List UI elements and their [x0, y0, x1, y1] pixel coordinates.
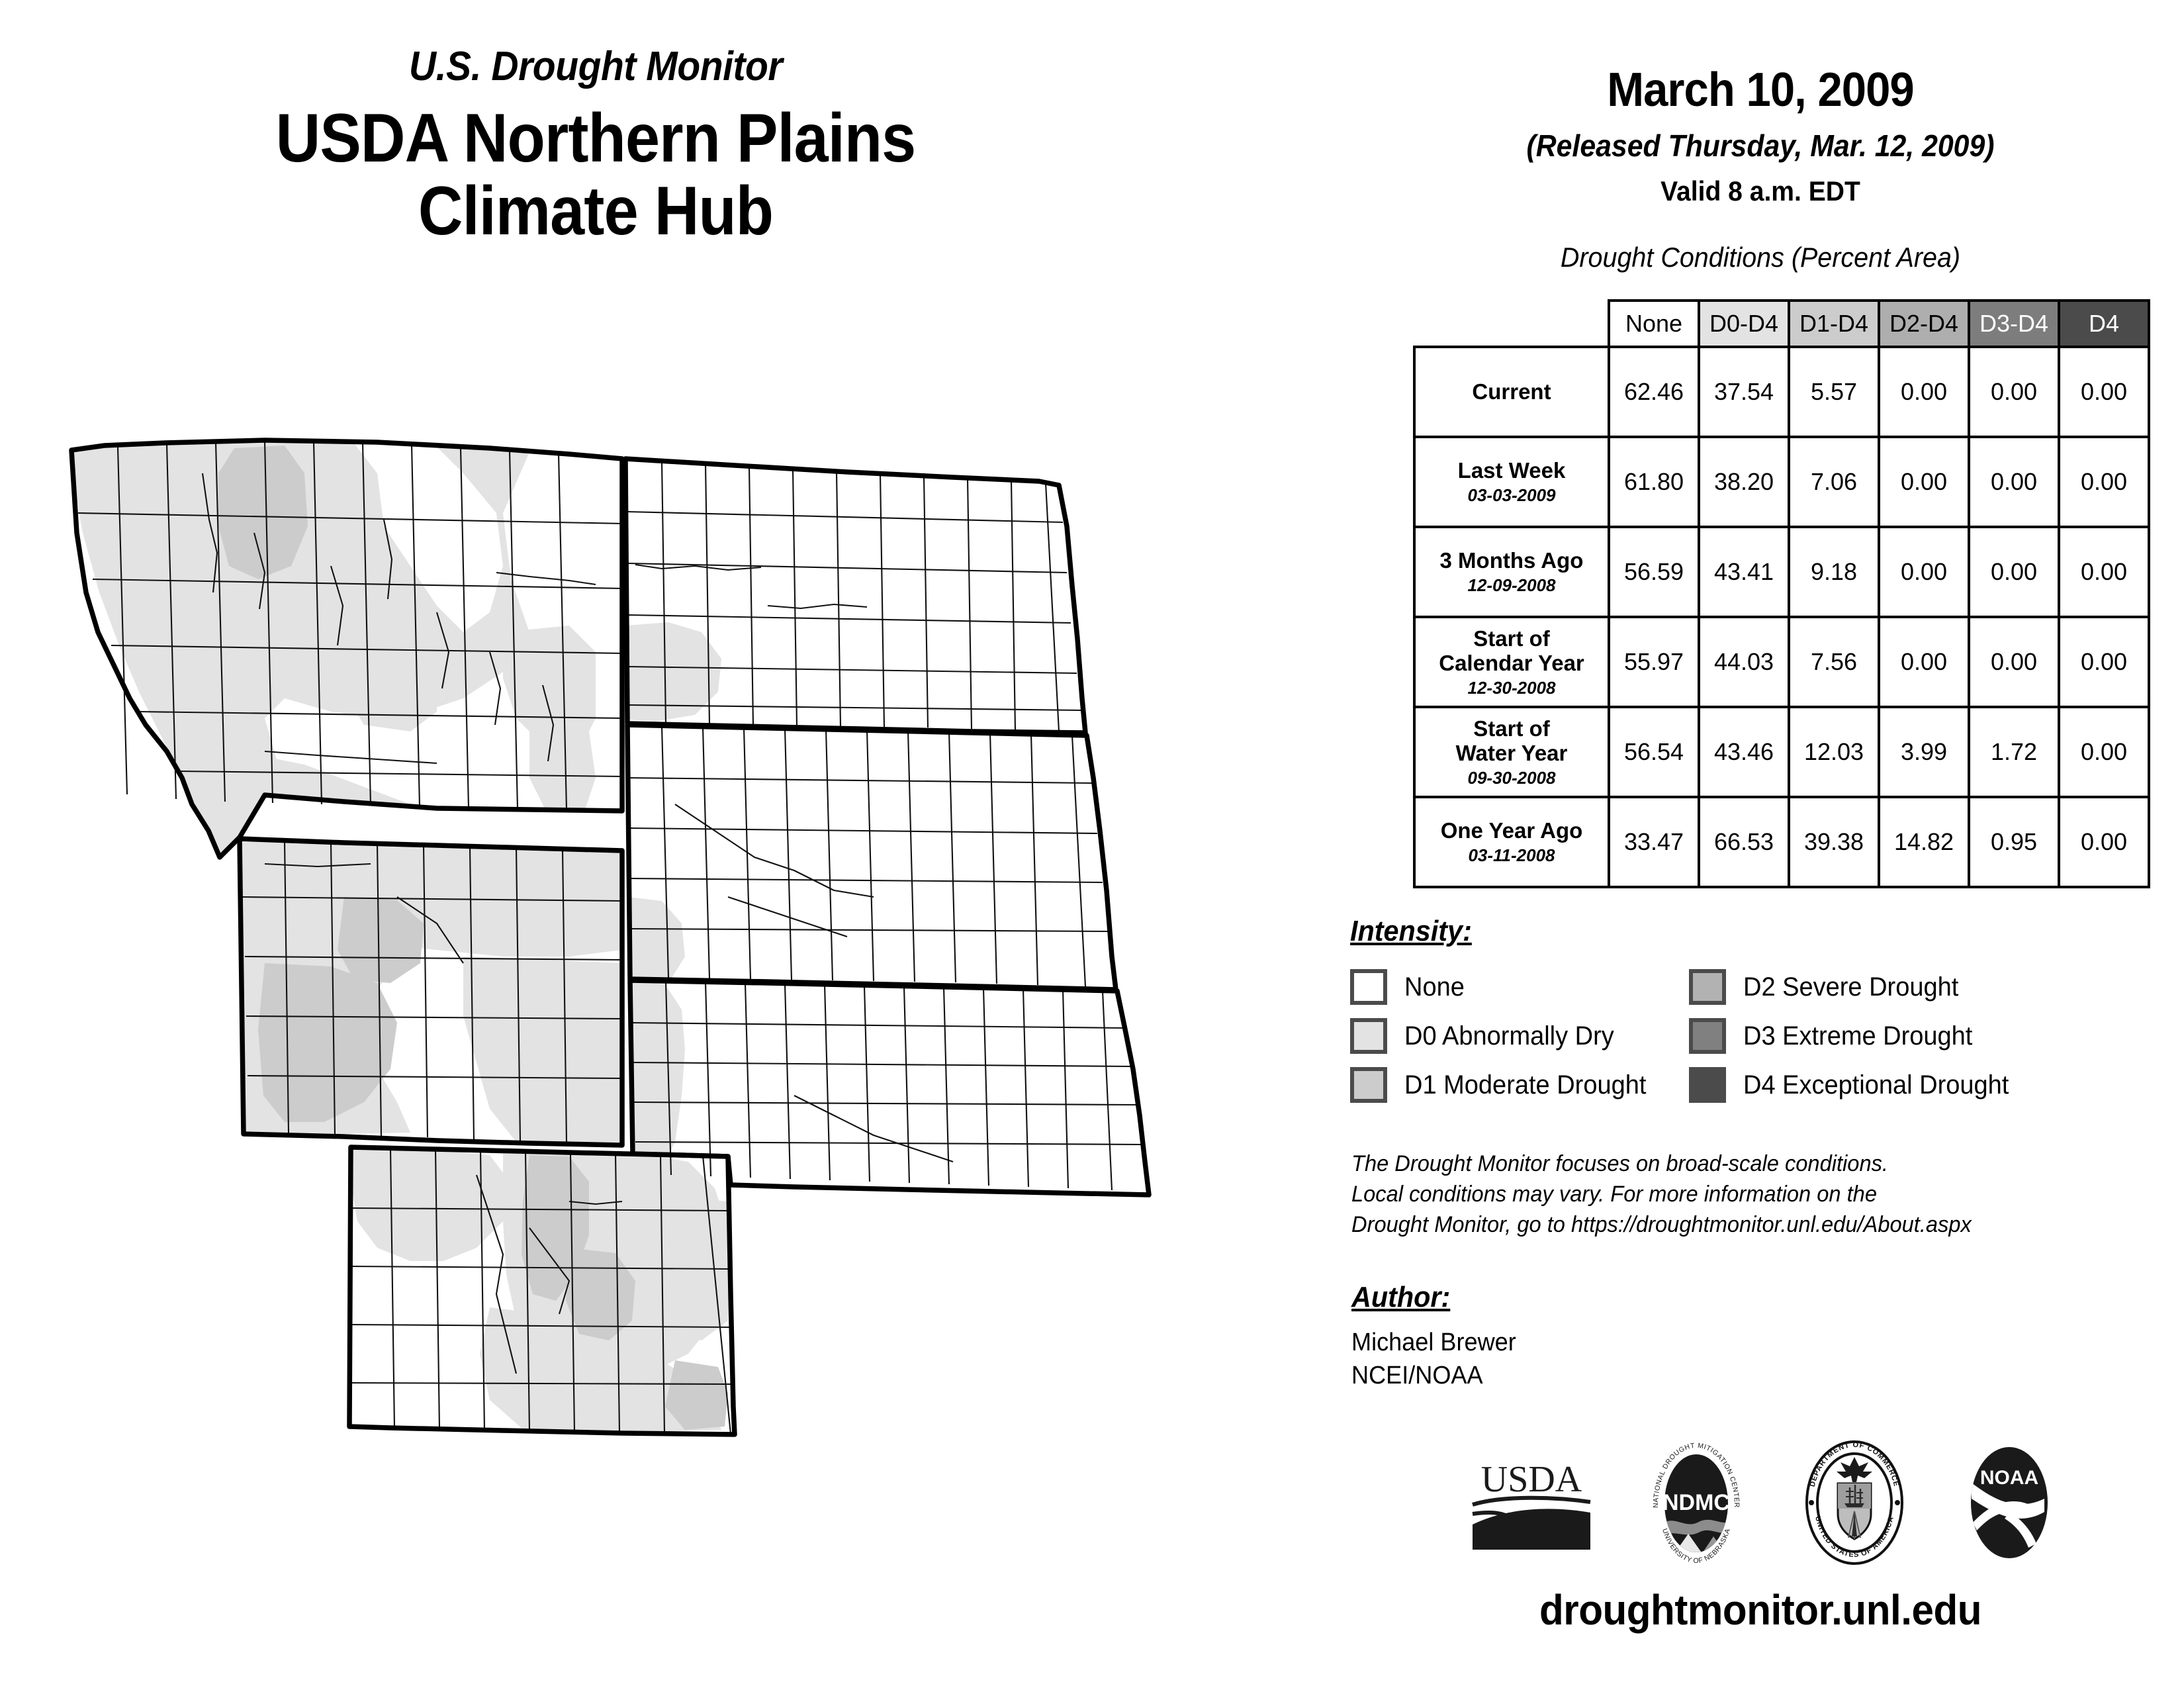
noaa-logo-icon: NOAA: [1960, 1443, 2059, 1562]
cell-cy-d0d4: 44.03: [1699, 617, 1789, 707]
row-label-line2: Water Year: [1456, 741, 1568, 765]
left-panel: U.S. Drought Monitor USDA Northern Plain…: [0, 0, 1337, 1688]
cell-lastweek-d2d4: 0.00: [1879, 437, 1969, 527]
conditions-table-holder: None D0-D4 D1-D4 D2-D4 D3-D4 D4 Current …: [1413, 299, 2149, 888]
cell-lastweek-d0d4: 38.20: [1699, 437, 1789, 527]
table-header-row: None D0-D4 D1-D4 D2-D4 D3-D4 D4: [1414, 301, 2149, 347]
cell-cy-d4: 0.00: [2059, 617, 2149, 707]
right-panel: March 10, 2009 (Released Thursday, Mar. …: [1337, 0, 2184, 1688]
cell-3mo-d4: 0.00: [2059, 527, 2149, 617]
row-label-start-of-water-year: Start of Water Year 09-30-2008: [1414, 707, 1609, 797]
legend-item-d3: D3 Extreme Drought: [1689, 1011, 2152, 1060]
cell-3mo-d1d4: 9.18: [1789, 527, 1879, 617]
legend-item-d0: D0 Abnormally Dry: [1350, 1011, 1689, 1060]
legend-item-none: None: [1350, 962, 1689, 1011]
row-label-3-months-ago: 3 Months Ago 12-09-2008: [1414, 527, 1609, 617]
cell-wy-d0d4: 43.46: [1699, 707, 1789, 797]
usda-logo-icon: USDA: [1469, 1453, 1594, 1552]
author-affiliation: NCEI/NOAA: [1351, 1359, 1917, 1392]
cell-1yr-d1d4: 39.38: [1789, 797, 1879, 887]
row-label-text: One Year Ago: [1441, 818, 1583, 843]
author-lines: Michael Brewer NCEI/NOAA: [1351, 1326, 1917, 1392]
cell-lastweek-d1d4: 7.06: [1789, 437, 1879, 527]
page-title-line2: Climate Hub: [60, 175, 1132, 248]
legend-label-d2: D2 Severe Drought: [1743, 972, 1958, 1002]
author-block: Author: Michael Brewer NCEI/NOAA: [1351, 1281, 1947, 1392]
doc-seal-icon: DEPARTMENT OF COMMERCE UNITED STATES OF …: [1798, 1440, 1911, 1566]
cell-wy-d2d4: 3.99: [1879, 707, 1969, 797]
ndmc-logo: NDMC NATIONAL DROUGHT MITIGATION CENTER …: [1643, 1440, 1749, 1566]
drought-map-svg[interactable]: [66, 434, 1277, 1440]
intensity-heading: Intensity:: [1350, 915, 1472, 948]
cell-lastweek-none: 61.80: [1609, 437, 1699, 527]
author-heading: Author:: [1351, 1281, 1450, 1314]
cell-lastweek-d3d4: 0.00: [1969, 437, 2059, 527]
disclaimer-text: The Drought Monitor focuses on broad-sca…: [1351, 1149, 2146, 1241]
cell-current-d0d4: 37.54: [1699, 347, 1789, 437]
row-label-last-week: Last Week 03-03-2009: [1414, 437, 1609, 527]
legend-label-none: None: [1404, 972, 1465, 1002]
row-label-date: 09-30-2008: [1420, 769, 1604, 788]
noaa-logo: NOAA: [1960, 1443, 2059, 1562]
row-label-line1: Start of: [1473, 716, 1550, 741]
usda-wordmark: USDA: [1481, 1459, 1582, 1500]
table-row: Start of Calendar Year 12-30-2008 55.97 …: [1414, 617, 2149, 707]
swatch-d2-icon: [1689, 969, 1726, 1005]
cell-wy-none: 56.54: [1609, 707, 1699, 797]
cell-wy-d4: 0.00: [2059, 707, 2149, 797]
cell-3mo-d2d4: 0.00: [1879, 527, 1969, 617]
valid-time: Valid 8 a.m. EDT: [1367, 175, 2154, 207]
cell-current-d4: 0.00: [2059, 347, 2149, 437]
row-label-start-of-calendar-year: Start of Calendar Year 12-30-2008: [1414, 617, 1609, 707]
author-name: Michael Brewer: [1351, 1326, 1917, 1359]
legend-label-d3: D3 Extreme Drought: [1743, 1021, 1972, 1051]
col-header-none: None: [1609, 301, 1699, 347]
cell-1yr-d4: 0.00: [2059, 797, 2149, 887]
noaa-wordmark: NOAA: [1980, 1467, 2038, 1489]
drought-map[interactable]: [66, 434, 1277, 1440]
page-title-line1: USDA Northern Plains: [60, 102, 1132, 175]
cell-1yr-d2d4: 14.82: [1879, 797, 1969, 887]
site-url[interactable]: droughtmonitor.unl.edu: [1362, 1585, 2158, 1634]
disclaimer-line-3: Drought Monitor, go to https://droughtmo…: [1351, 1209, 2146, 1240]
row-label-date: 03-11-2008: [1420, 846, 1604, 866]
legend-label-d4: D4 Exceptional Drought: [1743, 1070, 2009, 1100]
table-row: Current 62.46 37.54 5.57 0.00 0.00 0.00: [1414, 347, 2149, 437]
cell-lastweek-d4: 0.00: [2059, 437, 2149, 527]
row-label-text: Last Week: [1458, 458, 1566, 483]
doc-seal-logo: DEPARTMENT OF COMMERCE UNITED STATES OF …: [1798, 1440, 1911, 1566]
swatch-d0-icon: [1350, 1018, 1387, 1054]
cell-3mo-d0d4: 43.41: [1699, 527, 1789, 617]
row-label-current: Current: [1414, 347, 1609, 437]
cell-cy-d3d4: 0.00: [1969, 617, 2059, 707]
legend-item-d1: D1 Moderate Drought: [1350, 1060, 1689, 1109]
row-label-line2: Calendar Year: [1439, 651, 1584, 675]
cell-3mo-none: 56.59: [1609, 527, 1699, 617]
usda-logo: USDA: [1469, 1453, 1594, 1552]
col-header-d3-d4: D3-D4: [1969, 301, 2059, 347]
table-corner-cell: [1414, 301, 1609, 347]
page-title: USDA Northern Plains Climate Hub: [60, 102, 1132, 248]
table-row: 3 Months Ago 12-09-2008 56.59 43.41 9.18…: [1414, 527, 2149, 617]
swatch-d3-icon: [1689, 1018, 1726, 1054]
cell-current-none: 62.46: [1609, 347, 1699, 437]
valid-date: March 10, 2009: [1367, 63, 2154, 117]
row-label-date: 12-09-2008: [1420, 576, 1604, 596]
title-block: U.S. Drought Monitor USDA Northern Plain…: [0, 46, 1191, 248]
date-block: March 10, 2009 (Released Thursday, Mar. …: [1337, 0, 2184, 207]
intensity-legend: Intensity: None D2 Severe Drought D0 Abn…: [1350, 915, 2184, 1109]
ndmc-logo-icon: NDMC NATIONAL DROUGHT MITIGATION CENTER …: [1643, 1440, 1749, 1566]
cell-3mo-d3d4: 0.00: [1969, 527, 2059, 617]
cell-wy-d3d4: 1.72: [1969, 707, 2059, 797]
row-label-text: Current: [1472, 379, 1551, 404]
cell-1yr-d0d4: 66.53: [1699, 797, 1789, 887]
conditions-table-title: Drought Conditions (Percent Area): [1362, 242, 2158, 273]
row-label-date: 03-03-2009: [1420, 486, 1604, 506]
swatch-d1-icon: [1350, 1067, 1387, 1103]
drought-conditions-table: None D0-D4 D1-D4 D2-D4 D3-D4 D4 Current …: [1413, 299, 2150, 888]
col-header-d1-d4: D1-D4: [1789, 301, 1879, 347]
cell-current-d1d4: 5.57: [1789, 347, 1879, 437]
swatch-d4-icon: [1689, 1067, 1726, 1103]
cell-wy-d1d4: 12.03: [1789, 707, 1879, 797]
row-label-line1: Start of: [1473, 626, 1550, 651]
release-date: (Released Thursday, Mar. 12, 2009): [1367, 128, 2154, 164]
swatch-none-icon: [1350, 969, 1387, 1005]
cell-1yr-d3d4: 0.95: [1969, 797, 2059, 887]
legend-label-d0: D0 Abnormally Dry: [1404, 1021, 1614, 1051]
legend-item-d2: D2 Severe Drought: [1689, 962, 2152, 1011]
logo-row: USDA NDMC: [1350, 1436, 2177, 1569]
table-row: One Year Ago 03-11-2008 33.47 66.53 39.3…: [1414, 797, 2149, 887]
legend-label-d1: D1 Moderate Drought: [1404, 1070, 1646, 1100]
cell-cy-none: 55.97: [1609, 617, 1699, 707]
table-row: Last Week 03-03-2009 61.80 38.20 7.06 0.…: [1414, 437, 2149, 527]
cell-1yr-none: 33.47: [1609, 797, 1699, 887]
disclaimer-line-2: Local conditions may vary. For more info…: [1351, 1179, 2146, 1209]
cell-current-d3d4: 0.00: [1969, 347, 2059, 437]
row-label-one-year-ago: One Year Ago 03-11-2008: [1414, 797, 1609, 887]
legend-grid: None D2 Severe Drought D0 Abnormally Dry…: [1350, 962, 2184, 1109]
cell-cy-d2d4: 0.00: [1879, 617, 1969, 707]
legend-item-d4: D4 Exceptional Drought: [1689, 1060, 2152, 1109]
col-header-d0-d4: D0-D4: [1699, 301, 1789, 347]
drought-monitor-supertitle: U.S. Drought Monitor: [48, 46, 1144, 87]
cell-cy-d1d4: 7.56: [1789, 617, 1879, 707]
disclaimer-line-1: The Drought Monitor focuses on broad-sca…: [1351, 1149, 2146, 1179]
cell-current-d2d4: 0.00: [1879, 347, 1969, 437]
row-label-date: 12-30-2008: [1420, 679, 1604, 698]
row-label-text: 3 Months Ago: [1440, 548, 1584, 573]
table-row: Start of Water Year 09-30-2008 56.54 43.…: [1414, 707, 2149, 797]
col-header-d4: D4: [2059, 301, 2149, 347]
col-header-d2-d4: D2-D4: [1879, 301, 1969, 347]
ndmc-wordmark: NDMC: [1662, 1490, 1730, 1515]
